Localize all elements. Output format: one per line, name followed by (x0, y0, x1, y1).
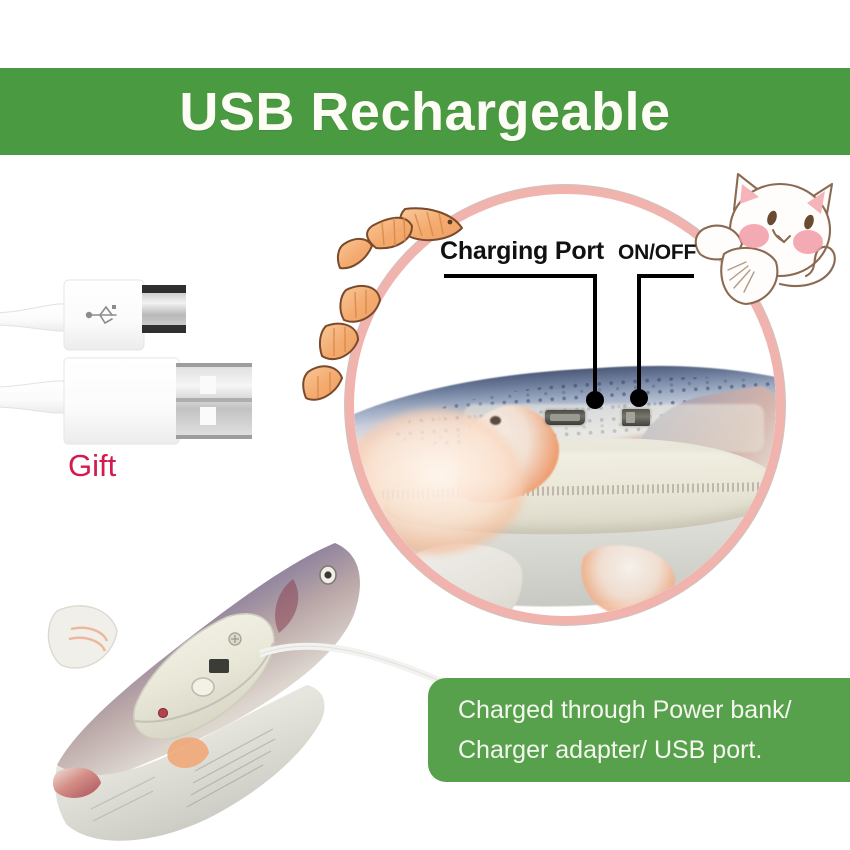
usb-a-shell (64, 358, 179, 444)
product-marketing-image: USB Rechargeable (0, 0, 850, 850)
usb-a-slot-lower (200, 407, 216, 425)
onoff-callout-label: ON/OFF (618, 241, 696, 265)
bottom-callout-box: Charged through Power bank/ Charger adap… (428, 678, 850, 782)
bottom-fish-charging-port (192, 678, 214, 696)
page-title: USB Rechargeable (179, 85, 670, 139)
bottom-fish-svg (35, 525, 465, 850)
bottom-plush-fish-photo (35, 525, 465, 850)
cat-eye-right (802, 213, 815, 230)
charging-port-callout-label: Charging Port (440, 237, 604, 266)
header-banner: USB Rechargeable (0, 68, 850, 155)
micro-usb-wire (0, 304, 66, 331)
bottom-callout-line-2: Charger adapter/ USB port. (458, 730, 850, 770)
charging-port (545, 410, 585, 425)
cat-muzzle (773, 230, 790, 242)
usb-a-wire (0, 381, 66, 413)
bottom-callout-line-1: Charged through Power bank/ (458, 690, 850, 730)
cat-eye-left (765, 209, 778, 226)
screw-dot (490, 416, 501, 425)
cat-ear-inner-left (740, 184, 759, 204)
bottom-fish-onoff-switch (209, 659, 229, 673)
micro-usb-tip-bottom (142, 325, 186, 333)
onoff-switch (622, 409, 650, 426)
usb-cable-svg (0, 255, 300, 470)
indicator-led (159, 709, 168, 718)
cat-cheek-left (739, 224, 769, 248)
gift-label: Gift (68, 448, 116, 484)
cat-cheek-right (793, 230, 823, 254)
usb-a-slot-upper (200, 376, 216, 394)
cat-ear-inner-right (807, 191, 825, 214)
gift-usb-cable-illustration (0, 255, 300, 470)
micro-usb-tip-top (142, 285, 186, 293)
